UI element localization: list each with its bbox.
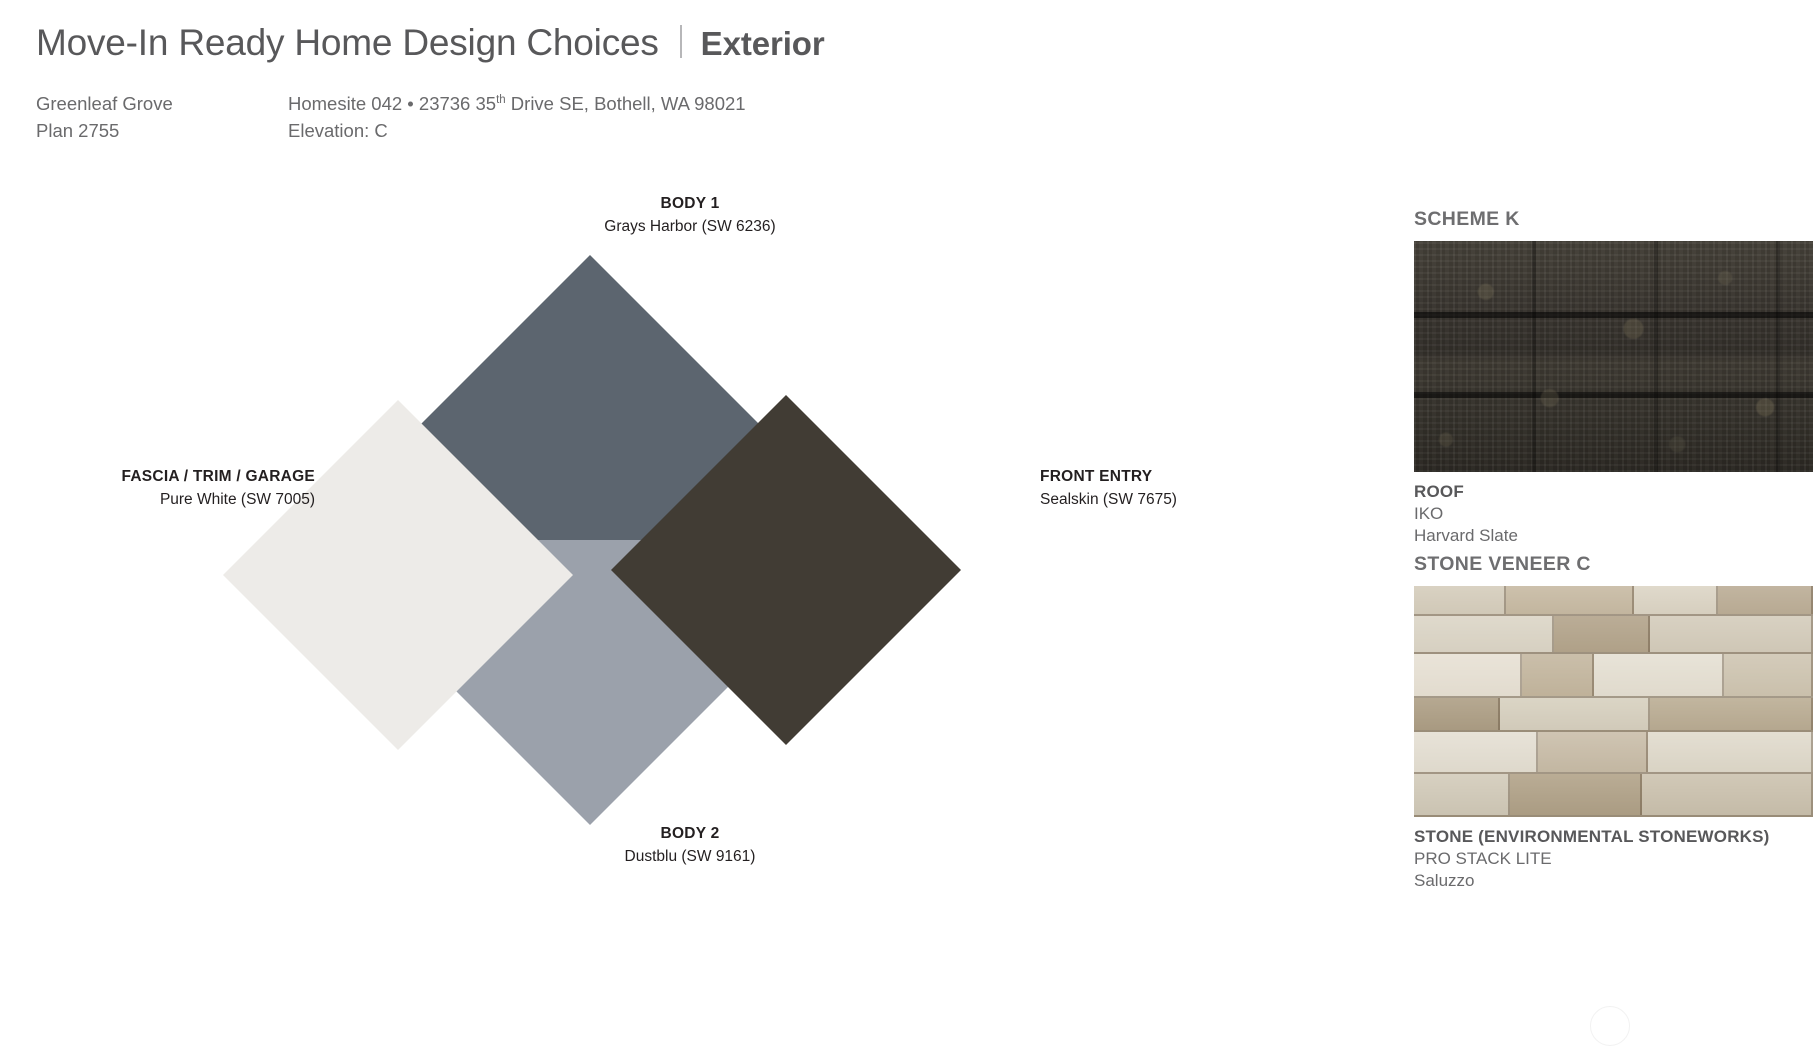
stone-course: [1414, 616, 1813, 654]
roof-caption: ROOF IKO Harvard Slate: [1414, 481, 1813, 547]
stone-brick: [1414, 732, 1538, 772]
stone-caption-product: PRO STACK LITE: [1414, 848, 1813, 870]
stone-brick: [1506, 586, 1634, 614]
stone-brick: [1648, 732, 1813, 772]
meta-address-column: Homesite 042 • 23736 35th Drive SE, Both…: [288, 90, 1188, 144]
label-front-entry-name: FRONT ENTRY: [1040, 465, 1440, 488]
title-divider: [680, 25, 682, 58]
stone-brick: [1414, 774, 1510, 815]
stone-caption-color: Saluzzo: [1414, 870, 1813, 892]
label-fascia-name: FASCIA / TRIM / GARAGE: [0, 465, 315, 488]
roof-caption-brand: IKO: [1414, 503, 1813, 525]
stone-course: [1414, 586, 1813, 616]
diamond-swatch-group: [0, 170, 1290, 910]
stone-veneer-heading: STONE VENEER C: [1414, 553, 1813, 576]
homesite-address: Homesite 042 • 23736 35th Drive SE, Both…: [288, 90, 1188, 117]
roof-material-block: SCHEME K ROOF IKO Harvard Slate: [1414, 208, 1813, 547]
homesite-address-prefix: Homesite 042 • 23736 35: [288, 93, 496, 114]
stone-brick: [1634, 586, 1718, 614]
stone-caption-title: STONE (ENVIRONMENTAL STONEWORKS): [1414, 826, 1813, 848]
plan-number: Plan 2755: [36, 117, 286, 144]
stone-brick: [1594, 654, 1724, 696]
color-scheme-diagram: BODY 1 Grays Harbor (SW 6236) BODY 2 Dus…: [0, 170, 1290, 910]
stone-brick: [1522, 654, 1594, 696]
stone-brick: [1650, 616, 1813, 652]
stone-brick: [1414, 586, 1506, 614]
stone-brick: [1538, 732, 1648, 772]
stone-brick: [1554, 616, 1650, 652]
community-name: Greenleaf Grove: [36, 90, 286, 117]
roof-caption-title: ROOF: [1414, 481, 1813, 503]
stone-brick: [1718, 586, 1813, 614]
label-fascia: FASCIA / TRIM / GARAGE Pure White (SW 70…: [0, 465, 315, 511]
label-body1-name: BODY 1: [490, 192, 890, 215]
label-body1-value: Grays Harbor (SW 6236): [490, 215, 890, 238]
label-fascia-value: Pure White (SW 7005): [0, 488, 315, 511]
label-body2-value: Dustblu (SW 9161): [490, 845, 890, 868]
decorative-circle-icon: [1590, 1006, 1630, 1046]
stone-brick: [1500, 698, 1650, 730]
page-title: Move-In Ready Home Design Choices: [36, 24, 659, 63]
roof-shingle-texture: [1414, 241, 1813, 472]
stone-brick: [1650, 698, 1813, 730]
stone-brick: [1414, 616, 1554, 652]
stone-course: [1414, 654, 1813, 698]
label-body2: BODY 2 Dustblu (SW 9161): [490, 822, 890, 868]
stone-brick: [1642, 774, 1813, 815]
page-header: Move-In Ready Home Design Choices Exteri…: [36, 22, 1236, 63]
stone-veneer-texture: [1414, 586, 1813, 817]
roof-shingle-swatch: [1414, 241, 1813, 472]
elevation-label: Elevation: C: [288, 117, 1188, 144]
meta-community-column: Greenleaf Grove Plan 2755: [36, 90, 286, 144]
scheme-heading: SCHEME K: [1414, 208, 1813, 231]
stone-veneer-swatch: [1414, 586, 1813, 817]
stone-caption: STONE (ENVIRONMENTAL STONEWORKS) PRO STA…: [1414, 826, 1813, 892]
stone-course: [1414, 732, 1813, 774]
homesite-address-suffix: Drive SE, Bothell, WA 98021: [506, 93, 746, 114]
materials-rail: SCHEME K ROOF IKO Harvard Slate STONE VE…: [1414, 0, 1813, 1058]
stone-brick: [1414, 698, 1500, 730]
section-title: Exterior: [701, 25, 825, 63]
stone-brick: [1724, 654, 1813, 696]
title-row: Move-In Ready Home Design Choices Exteri…: [36, 22, 1236, 63]
label-body2-name: BODY 2: [490, 822, 890, 845]
stone-material-block: STONE VENEER C: [1414, 553, 1813, 892]
roof-caption-product: Harvard Slate: [1414, 525, 1813, 547]
stone-brick: [1414, 654, 1522, 696]
stone-course: [1414, 698, 1813, 732]
label-front-entry-value: Sealskin (SW 7675): [1040, 488, 1440, 511]
stone-course: [1414, 774, 1813, 817]
label-front-entry: FRONT ENTRY Sealskin (SW 7675): [1040, 465, 1440, 511]
homesite-address-ordinal: th: [496, 94, 506, 106]
label-body1: BODY 1 Grays Harbor (SW 6236): [490, 192, 890, 238]
stone-brick: [1510, 774, 1642, 815]
